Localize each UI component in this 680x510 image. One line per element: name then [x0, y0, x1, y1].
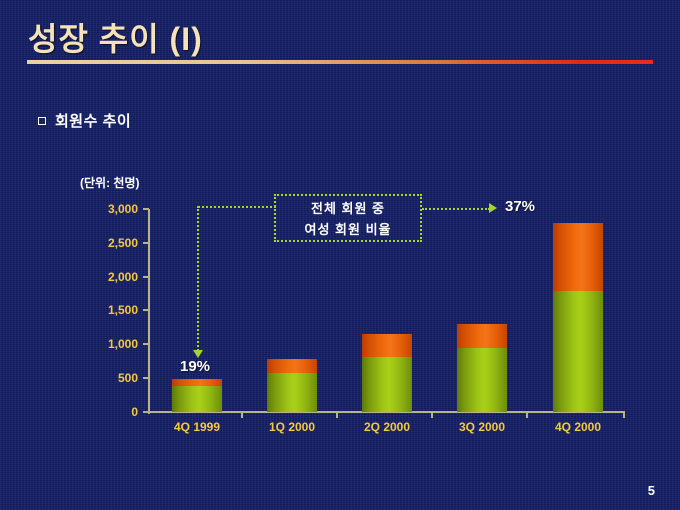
- bar-4q-1999[interactable]: [172, 379, 222, 412]
- callout-leader-left-horizontal: [198, 206, 276, 208]
- bar-segment-female: [553, 223, 603, 291]
- x-axis-tick-mark: [431, 413, 433, 418]
- callout-box: 전체 회원 중 여성 회원 비율: [274, 194, 422, 242]
- data-label-last-ratio: 37%: [505, 198, 535, 215]
- callout-leader-left-vertical: [197, 206, 199, 351]
- y-axis-tick-mark: [143, 276, 149, 278]
- bar-segment-male: [172, 386, 222, 412]
- member-growth-bar-chart: (단위: 천명) 0 500 1,000 1,500 2,000 2,500 3…: [0, 0, 680, 510]
- y-axis-tick-mark: [143, 377, 149, 379]
- page-number: 5: [648, 483, 655, 498]
- callout-line-1: 전체 회원 중: [311, 198, 385, 217]
- bar-2q-2000[interactable]: [362, 334, 412, 412]
- x-axis-category-label: 2Q 2000: [364, 420, 410, 434]
- y-axis-tick-label: 0: [131, 405, 138, 419]
- y-axis-tick-label: 500: [118, 371, 138, 385]
- bar-segment-male: [457, 348, 507, 412]
- bar-segment-female: [172, 379, 222, 386]
- callout-leader-right-arrow-icon: [489, 203, 497, 213]
- y-axis-tick-label: 2,000: [108, 270, 138, 284]
- data-label-first-ratio: 19%: [180, 358, 210, 375]
- bar-segment-male: [362, 357, 412, 412]
- y-axis-tick-label: 2,500: [108, 236, 138, 250]
- y-axis-tick-label: 1,500: [108, 303, 138, 317]
- y-axis-tick-mark: [143, 309, 149, 311]
- y-axis-tick-mark: [143, 242, 149, 244]
- x-axis-category-label: 1Q 2000: [269, 420, 315, 434]
- bar-segment-female: [362, 334, 412, 357]
- x-axis-tick-mark: [241, 413, 243, 418]
- x-axis-category-label: 3Q 2000: [459, 420, 505, 434]
- y-axis-tick-mark: [143, 208, 149, 210]
- bar-segment-female: [457, 324, 507, 348]
- y-axis-tick-mark: [143, 411, 149, 413]
- y-axis-tick-label: 3,000: [108, 202, 138, 216]
- y-axis-line: [148, 209, 150, 414]
- bar-segment-male: [267, 373, 317, 412]
- bar-1q-2000[interactable]: [267, 359, 317, 412]
- callout-leader-right-horizontal: [422, 208, 490, 210]
- bar-segment-female: [267, 359, 317, 373]
- x-axis-tick-mark: [526, 413, 528, 418]
- x-axis-category-label: 4Q 2000: [555, 420, 601, 434]
- bar-segment-male: [553, 291, 603, 412]
- slide-canvas: 성장 추이 (I) 회원수 추이 (단위: 천명) 0 500 1,000 1,…: [0, 0, 680, 510]
- x-axis-tick-mark: [623, 413, 625, 418]
- y-axis-tick-mark: [143, 343, 149, 345]
- x-axis-tick-mark: [336, 413, 338, 418]
- callout-leader-left-arrow-icon: [193, 350, 203, 358]
- bar-4q-2000[interactable]: [553, 223, 603, 412]
- x-axis-category-label: 4Q 1999: [174, 420, 220, 434]
- bar-3q-2000[interactable]: [457, 324, 507, 412]
- callout-line-2: 여성 회원 비율: [305, 219, 392, 238]
- y-axis-tick-label: 1,000: [108, 337, 138, 351]
- chart-unit-label: (단위: 천명): [80, 174, 139, 191]
